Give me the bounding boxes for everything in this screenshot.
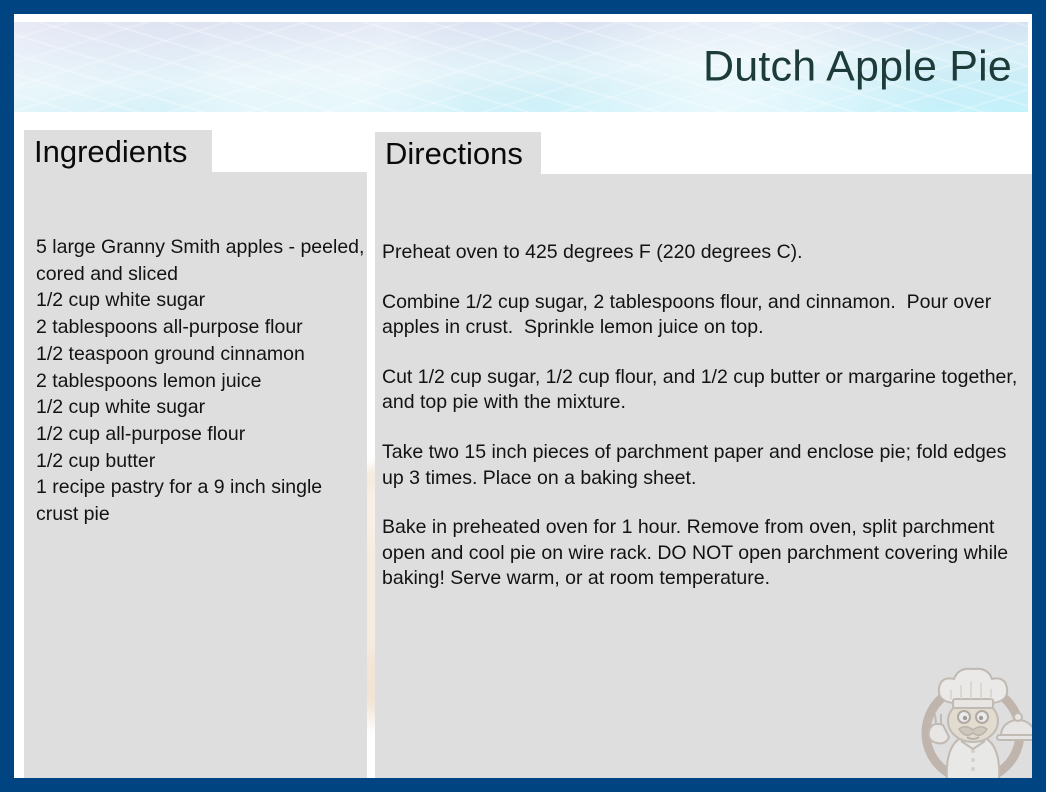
direction-step: Bake in preheated oven for 1 hour. Remov… (382, 515, 1027, 592)
ingredients-panel: Ingredients 5 large Granny Smith apples … (24, 130, 367, 790)
directions-body: Preheat oven to 425 degrees F (220 degre… (375, 174, 1032, 790)
directions-heading-tab: Directions (375, 132, 541, 174)
header-banner: Dutch Apple Pie (14, 22, 1028, 112)
directions-panel: Directions Preheat oven to 425 degrees F… (375, 132, 1032, 790)
directions-steps: Preheat oven to 425 degrees F (220 degre… (382, 240, 1027, 592)
directions-heading: Directions (385, 138, 523, 169)
direction-step: Cut 1/2 cup sugar, 1/2 cup flour, and 1/… (382, 365, 1027, 416)
ingredients-heading-tab: Ingredients (24, 130, 212, 172)
page-title: Dutch Apple Pie (703, 43, 1012, 92)
direction-step: Take two 15 inch pieces of parchment pap… (382, 440, 1027, 491)
direction-step: Preheat oven to 425 degrees F (220 degre… (382, 240, 1027, 266)
ingredients-heading: Ingredients (34, 136, 187, 167)
ingredients-body: 5 large Granny Smith apples - peeled, co… (24, 172, 367, 790)
ingredients-list: 5 large Granny Smith apples - peeled, co… (36, 234, 366, 528)
direction-step: Combine 1/2 cup sugar, 2 tablespoons flo… (382, 290, 1027, 341)
recipe-card-slide: Dutch Apple Pie (0, 0, 1046, 792)
